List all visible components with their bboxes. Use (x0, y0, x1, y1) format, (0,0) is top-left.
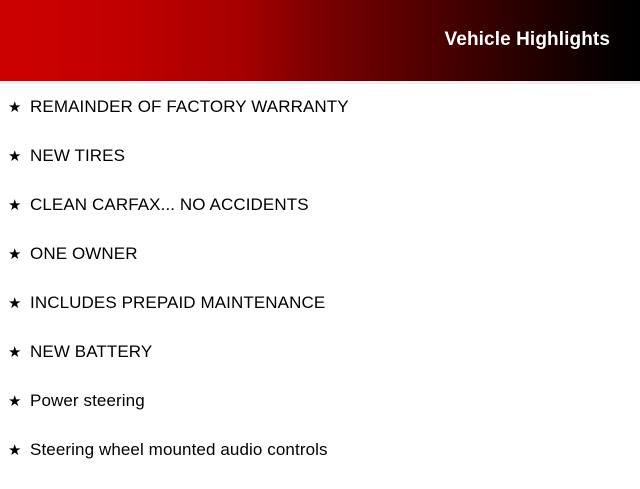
page-title: Vehicle Highlights (445, 29, 610, 51)
list-item: ★ REMAINDER OF FACTORY WARRANTY (0, 84, 640, 146)
highlight-label: ONE OWNER (30, 244, 138, 264)
star-icon: ★ (8, 245, 30, 265)
star-icon: ★ (8, 98, 30, 118)
highlight-label: INCLUDES PREPAID MAINTENANCE (30, 293, 325, 313)
vehicle-highlights-page: Vehicle Highlights ★ REMAINDER OF FACTOR… (0, 0, 640, 480)
list-item: ★ ONE OWNER (0, 244, 640, 293)
list-item: ★ Steering wheel mounted audio controls (0, 440, 640, 489)
list-item: ★ NEW TIRES (0, 146, 640, 195)
list-item: ★ Power steering (0, 391, 640, 440)
highlight-label: NEW TIRES (30, 146, 125, 166)
star-icon: ★ (8, 441, 30, 461)
highlight-label: NEW BATTERY (30, 342, 152, 362)
highlight-label: CLEAN CARFAX... NO ACCIDENTS (30, 195, 309, 215)
list-item: ★ CLEAN CARFAX... NO ACCIDENTS (0, 195, 640, 244)
highlight-label: Steering wheel mounted audio controls (30, 440, 328, 460)
highlights-list: ★ REMAINDER OF FACTORY WARRANTY ★ NEW TI… (0, 84, 640, 489)
header-banner: Vehicle Highlights (0, 0, 640, 81)
star-icon: ★ (8, 196, 30, 216)
highlight-label: Power steering (30, 391, 145, 411)
highlight-label: REMAINDER OF FACTORY WARRANTY (30, 97, 349, 117)
star-icon: ★ (8, 294, 30, 314)
star-icon: ★ (8, 392, 30, 412)
star-icon: ★ (8, 343, 30, 363)
star-icon: ★ (8, 147, 30, 167)
list-item: ★ NEW BATTERY (0, 342, 640, 391)
list-item: ★ INCLUDES PREPAID MAINTENANCE (0, 293, 640, 342)
